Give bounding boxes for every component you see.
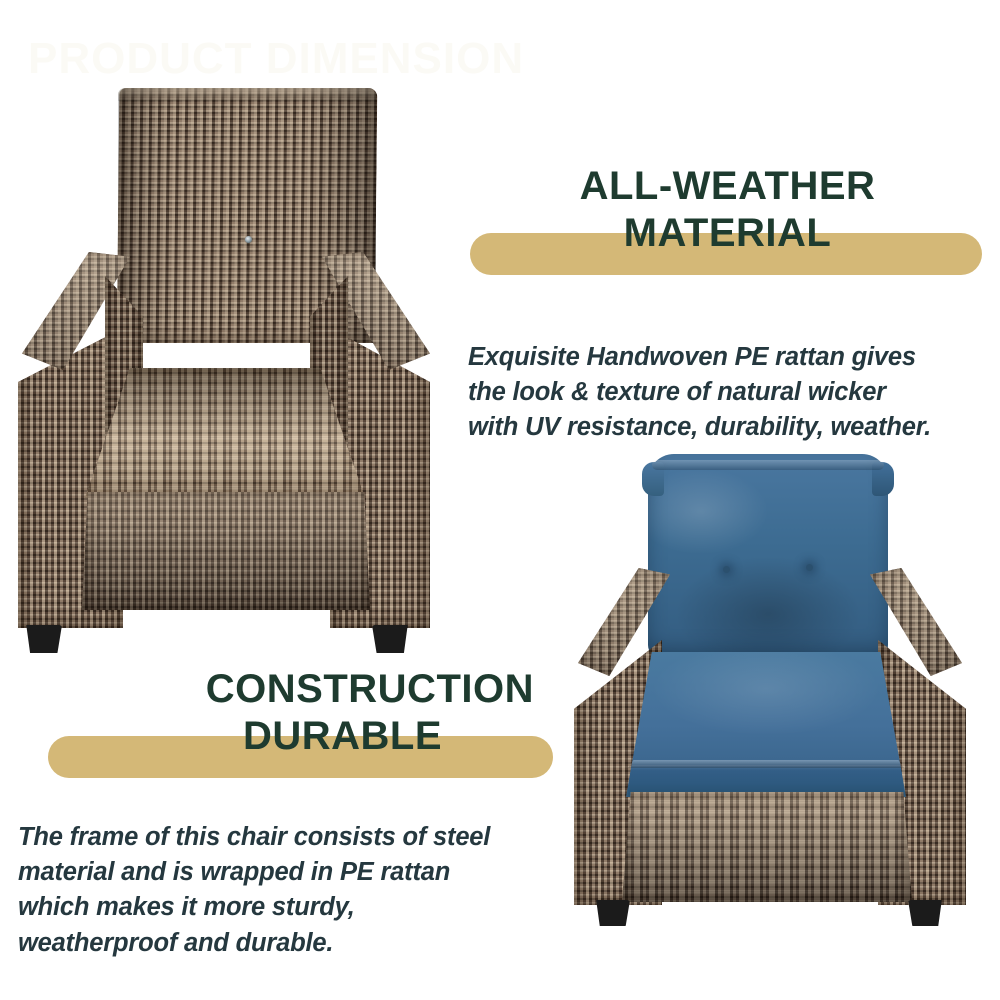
construction-body-line-2: material and is wrapped in PE rattan xyxy=(18,855,563,890)
back-cushion xyxy=(648,454,888,659)
backrest-screw xyxy=(245,236,252,243)
construction-body-line-1: The frame of this chair consists of stee… xyxy=(18,820,563,855)
back-cushion-left-ear xyxy=(642,462,664,496)
tuft-button-left xyxy=(723,566,730,573)
cushioned-chair-image xyxy=(560,440,1000,940)
construction-body-line-4: weatherproof and durable. xyxy=(18,926,563,961)
construction-body-text: The frame of this chair consists of stee… xyxy=(18,820,563,961)
chair-front-apron xyxy=(82,492,370,610)
construction-heading-block: CONSTRUCTION DURABLE xyxy=(30,668,542,783)
chair-foot-left xyxy=(24,625,62,653)
seat-cushion xyxy=(630,652,902,774)
frame-chair-image xyxy=(0,80,450,605)
construction-heading-line2: DURABLE xyxy=(30,715,542,758)
all-weather-body-line-1: Exquisite Handwoven PE rattan gives xyxy=(468,340,1000,375)
all-weather-body-line-2: the look & texture of natural wicker xyxy=(468,375,1000,410)
cushioned-chair-foot-right xyxy=(908,900,944,926)
tuft-button-right xyxy=(806,564,813,571)
cushioned-chair-foot-left xyxy=(594,900,630,926)
all-weather-heading-line2: MATERIAL xyxy=(470,212,985,255)
construction-body-line-3: which makes it more sturdy, xyxy=(18,890,563,925)
all-weather-heading-block: ALL-WEATHER MATERIAL xyxy=(470,165,985,280)
back-cushion-right-ear xyxy=(872,462,894,496)
product-feature-graphic: PRODUCT DIMENSION xyxy=(0,0,1000,1000)
all-weather-heading-line1: ALL-WEATHER xyxy=(470,165,985,208)
chair-seat-deck xyxy=(85,368,365,498)
all-weather-body-text: Exquisite Handwoven PE rattan gives the … xyxy=(468,340,1000,446)
chair-foot-right xyxy=(372,625,410,653)
cushioned-chair-front-apron xyxy=(622,792,912,902)
watermark-text: PRODUCT DIMENSION xyxy=(28,34,524,84)
construction-heading-line1: CONSTRUCTION xyxy=(30,668,542,711)
